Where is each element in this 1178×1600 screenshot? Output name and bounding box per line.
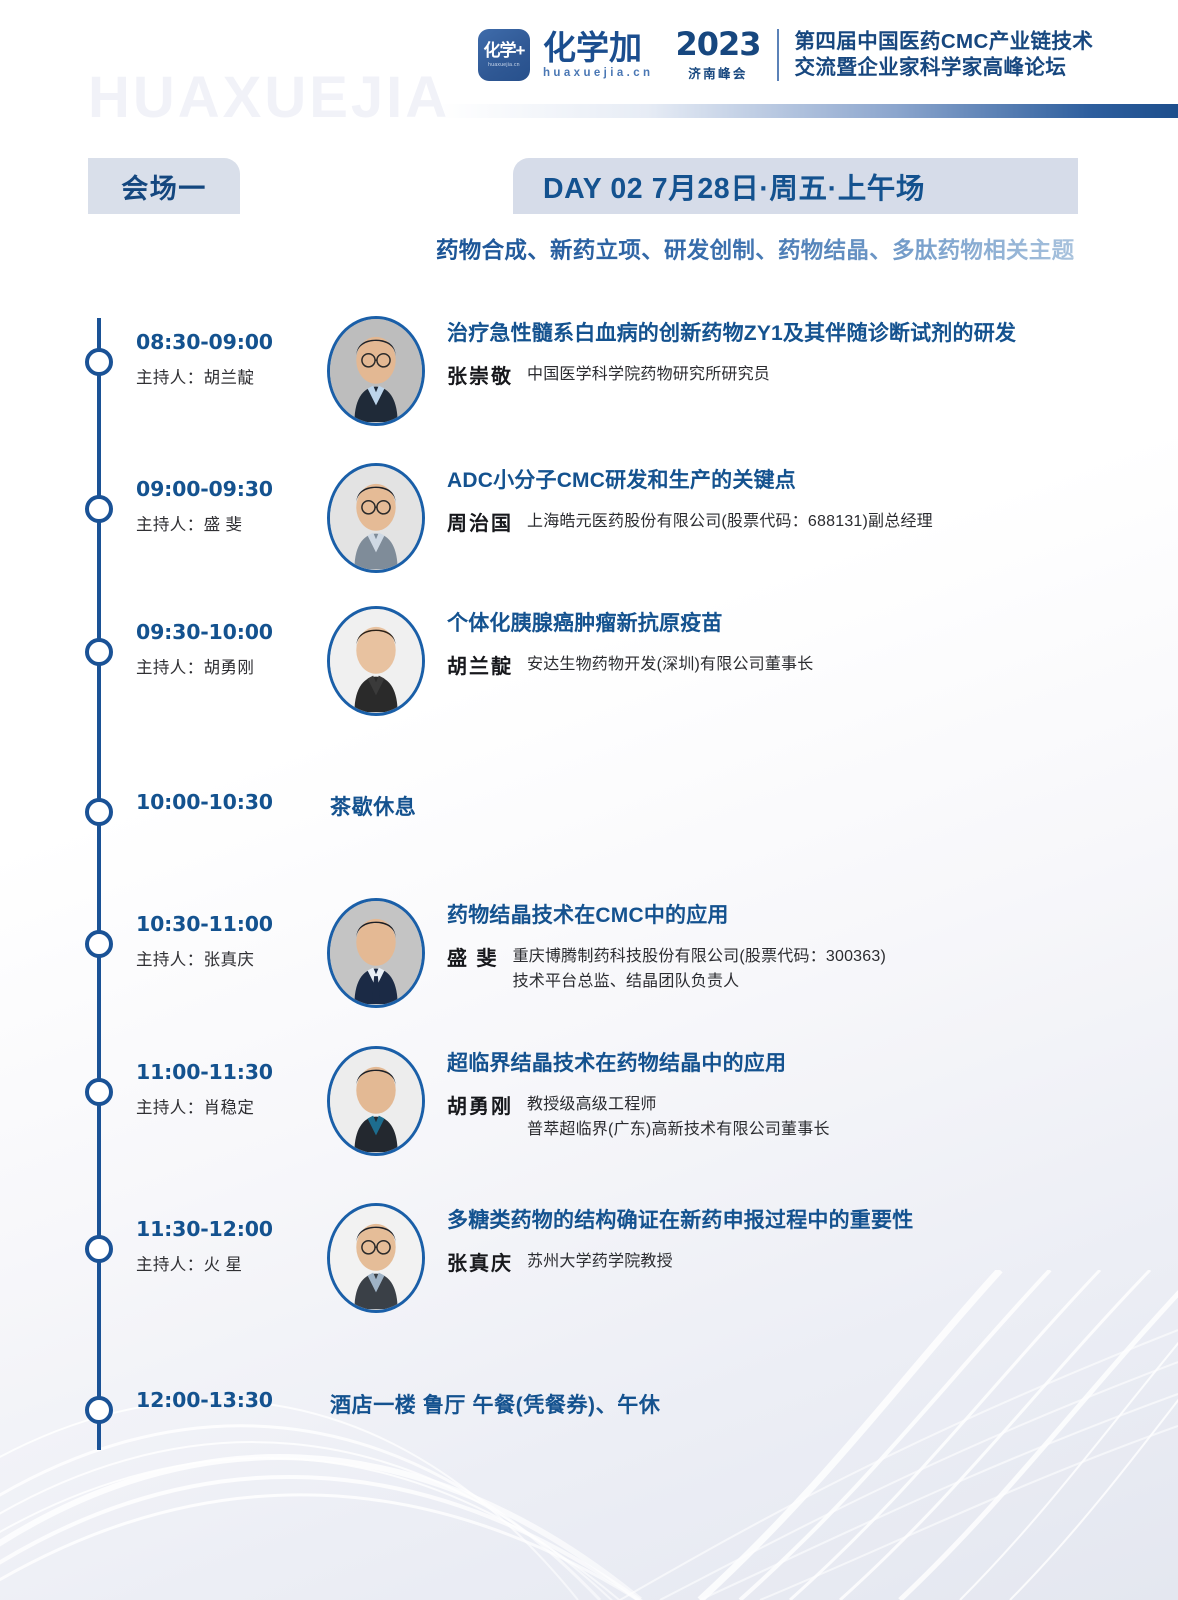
speaker-block: 盛 斐 重庆博腾制药科技股份有限公司(股票代码：300363)技术平台总监、结晶… <box>447 942 1138 995</box>
speaker-avatar <box>327 1203 425 1313</box>
session-host: 主持人：张真庆 <box>136 946 326 970</box>
break-label: 茶歇休息 <box>330 791 416 821</box>
session-time: 09:30-10:00 <box>136 620 326 644</box>
session-title: 多糖类药物的结构确证在新药申报过程中的重要性 <box>447 1208 1138 1234</box>
session-detail: 多糖类药物的结构确证在新药申报过程中的重要性 张真庆 苏州大学药学院教授 <box>447 1208 1138 1276</box>
speaker-avatar <box>327 316 425 426</box>
timeline-dot <box>85 495 113 523</box>
agenda-time-block: 09:30-10:00 主持人：胡勇刚 <box>136 620 326 678</box>
speaker-org-line: 重庆博腾制药科技股份有限公司(股票代码：300363) <box>513 945 886 970</box>
agenda-time-block: 09:00-09:30 主持人：盛 斐 <box>136 477 326 535</box>
speaker-org-line: 苏州大学药学院教授 <box>527 1250 673 1275</box>
session-time: 11:30-12:00 <box>136 1217 326 1241</box>
agenda-list: 08:30-09:00 主持人：胡兰靛 治疗急性髓系白血病的创新药物ZY1及其伴… <box>0 0 1178 1600</box>
agenda-time-block: 10:00-10:30 <box>136 790 326 814</box>
speaker-block: 胡勇刚 教授级高级工程师普萃超临界(广东)高新技术有限公司董事长 <box>447 1090 1138 1143</box>
session-detail: 药物结晶技术在CMC中的应用 盛 斐 重庆博腾制药科技股份有限公司(股票代码：3… <box>447 903 1138 995</box>
speaker-avatar <box>327 606 425 716</box>
speaker-org-line: 技术平台总监、结晶团队负责人 <box>513 970 886 995</box>
timeline-dot <box>85 930 113 958</box>
speaker-block: 周治国 上海皓元医药股份有限公司(股票代码：688131)副总经理 <box>447 507 1138 536</box>
session-host: 主持人：胡勇刚 <box>136 654 326 678</box>
agenda-time-block: 12:00-13:30 <box>136 1388 326 1412</box>
agenda-time-block: 10:30-11:00 主持人：张真庆 <box>136 912 326 970</box>
speaker-name: 周治国 <box>447 507 513 536</box>
agenda-time-block: 11:30-12:00 主持人：火 星 <box>136 1217 326 1275</box>
speaker-name: 张崇敬 <box>447 360 513 389</box>
speaker-name: 胡勇刚 <box>447 1090 513 1119</box>
speaker-org: 教授级高级工程师普萃超临界(广东)高新技术有限公司董事长 <box>527 1090 830 1143</box>
speaker-block: 张真庆 苏州大学药学院教授 <box>447 1247 1138 1276</box>
session-detail: ADC小分子CMC研发和生产的关键点 周治国 上海皓元医药股份有限公司(股票代码… <box>447 468 1138 536</box>
session-time: 09:00-09:30 <box>136 477 326 501</box>
speaker-org-line: 普萃超临界(广东)高新技术有限公司董事长 <box>527 1118 830 1143</box>
speaker-org: 中国医学科学院药物研究所研究员 <box>527 360 770 388</box>
session-detail: 超临界结晶技术在药物结晶中的应用 胡勇刚 教授级高级工程师普萃超临界(广东)高新… <box>447 1051 1138 1143</box>
session-title: ADC小分子CMC研发和生产的关键点 <box>447 468 1138 494</box>
speaker-avatar <box>327 463 425 573</box>
session-host: 主持人：胡兰靛 <box>136 364 326 388</box>
speaker-name: 盛 斐 <box>447 942 499 971</box>
session-time: 10:30-11:00 <box>136 912 326 936</box>
session-host: 主持人：火 星 <box>136 1251 326 1275</box>
session-title: 药物结晶技术在CMC中的应用 <box>447 903 1138 929</box>
agenda-time-block: 11:00-11:30 主持人：肖稳定 <box>136 1060 326 1118</box>
timeline-dot <box>85 1396 113 1424</box>
session-title: 治疗急性髓系白血病的创新药物ZY1及其伴随诊断试剂的研发 <box>447 321 1138 347</box>
session-time: 12:00-13:30 <box>136 1388 326 1412</box>
session-time: 11:00-11:30 <box>136 1060 326 1084</box>
agenda-time-block: 08:30-09:00 主持人：胡兰靛 <box>136 330 326 388</box>
break-label: 酒店一楼 鲁厅 午餐(凭餐券)、午休 <box>330 1389 660 1419</box>
timeline-dot <box>85 1078 113 1106</box>
speaker-org-line: 教授级高级工程师 <box>527 1093 830 1118</box>
session-title: 超临界结晶技术在药物结晶中的应用 <box>447 1051 1138 1077</box>
session-host: 主持人：肖稳定 <box>136 1094 326 1118</box>
speaker-org: 安达生物药物开发(深圳)有限公司董事长 <box>527 650 813 678</box>
session-title: 个体化胰腺癌肿瘤新抗原疫苗 <box>447 611 1138 637</box>
speaker-org-line: 中国医学科学院药物研究所研究员 <box>527 363 770 388</box>
speaker-block: 张崇敬 中国医学科学院药物研究所研究员 <box>447 360 1138 389</box>
speaker-org-line: 安达生物药物开发(深圳)有限公司董事长 <box>527 653 813 678</box>
timeline-dot <box>85 638 113 666</box>
timeline-dot <box>85 798 113 826</box>
speaker-avatar <box>327 1046 425 1156</box>
session-detail: 治疗急性髓系白血病的创新药物ZY1及其伴随诊断试剂的研发 张崇敬 中国医学科学院… <box>447 321 1138 389</box>
speaker-name: 胡兰靛 <box>447 650 513 679</box>
speaker-block: 胡兰靛 安达生物药物开发(深圳)有限公司董事长 <box>447 650 1138 679</box>
speaker-name: 张真庆 <box>447 1247 513 1276</box>
speaker-org-line: 上海皓元医药股份有限公司(股票代码：688131)副总经理 <box>527 510 933 535</box>
speaker-avatar <box>327 898 425 1008</box>
timeline-dot <box>85 348 113 376</box>
session-time: 10:00-10:30 <box>136 790 326 814</box>
speaker-org: 重庆博腾制药科技股份有限公司(股票代码：300363)技术平台总监、结晶团队负责… <box>513 942 886 995</box>
session-time: 08:30-09:00 <box>136 330 326 354</box>
speaker-org: 上海皓元医药股份有限公司(股票代码：688131)副总经理 <box>527 507 933 535</box>
speaker-org: 苏州大学药学院教授 <box>527 1247 673 1275</box>
timeline-dot <box>85 1235 113 1263</box>
session-detail: 个体化胰腺癌肿瘤新抗原疫苗 胡兰靛 安达生物药物开发(深圳)有限公司董事长 <box>447 611 1138 679</box>
session-host: 主持人：盛 斐 <box>136 511 326 535</box>
